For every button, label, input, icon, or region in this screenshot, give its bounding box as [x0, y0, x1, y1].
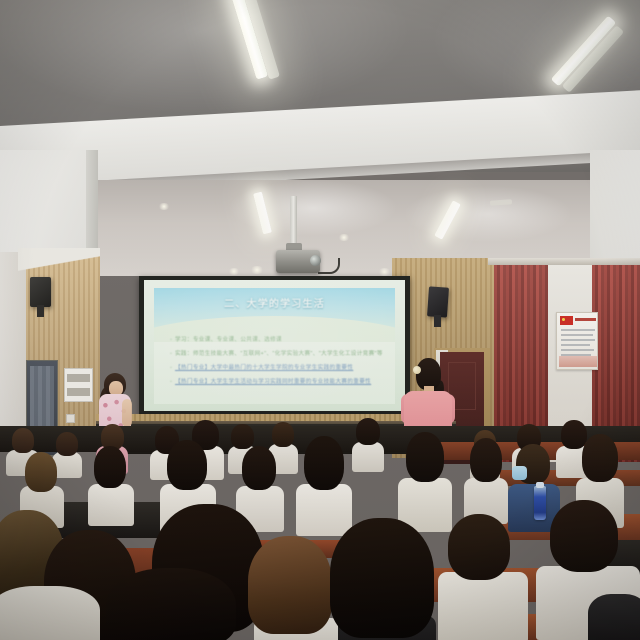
audience-head	[470, 438, 502, 482]
bullet-marker-icon: ◦	[170, 364, 172, 373]
hair-clip-icon	[413, 366, 421, 374]
face-mask-icon	[512, 466, 527, 480]
audience-torso	[0, 586, 100, 640]
slide-title: 二、大学的学习生活	[154, 295, 395, 310]
audience-person	[88, 446, 134, 520]
downlight-icon	[228, 268, 240, 275]
poster-text-line	[561, 344, 590, 346]
audience-person	[352, 418, 384, 468]
bullet-marker-icon: ◦	[170, 336, 172, 345]
poster-text-line	[561, 329, 595, 331]
audience-person	[464, 438, 508, 516]
poster-text-line	[561, 339, 595, 341]
audience-head	[272, 422, 294, 447]
wall-poster	[556, 312, 598, 370]
audience-head	[167, 440, 207, 490]
slide-body: ◦ 学习：专业课、专业课、公共课、选修课 ◦ 实践：师范生技能大赛、"互联网+"…	[170, 336, 387, 392]
wall-panel-slot	[67, 388, 90, 396]
audience-head	[582, 434, 618, 482]
bullet-marker-icon: ◦	[170, 378, 172, 387]
audience-torso	[88, 484, 134, 526]
poster-text-line	[561, 334, 593, 336]
slide-bullet-text: 实践：师范生技能大赛、"互联网+"、"化学实验大赛"、"大学生化工设计竞赛"等	[175, 350, 383, 359]
poster-text-line	[561, 349, 594, 351]
lecture-hall-photo: 二、大学的学习生活 ◦ 学习：专业课、专业课、公共课、选修课 ◦ 实践：师范生技…	[0, 0, 640, 640]
downlight-icon	[158, 203, 170, 210]
wall-speaker-bracket	[37, 305, 44, 317]
audience-head	[25, 452, 57, 492]
audience-area	[0, 418, 640, 640]
audience-head	[304, 436, 344, 490]
curtain-rod	[488, 258, 640, 265]
water-bottle-cap	[536, 482, 544, 488]
projection-screen: 二、大学的学习生活 ◦ 学习：专业课、专业课、公共课、选修课 ◦ 实践：师范生技…	[144, 280, 405, 411]
audience-head	[12, 428, 34, 453]
poster-footer-graphic	[559, 356, 597, 367]
audience-person	[296, 436, 352, 528]
audience-head	[406, 432, 444, 482]
flag-icon	[560, 316, 573, 325]
slide-bullet: ◦ 【热门专业】大学中最热门的十大学生学院的专业学生实践的重要性	[170, 364, 387, 373]
audience-torso	[438, 572, 528, 640]
downlight-icon	[378, 268, 391, 276]
presentation-slide: 二、大学的学习生活 ◦ 学习：专业课、专业课、公共课、选修课 ◦ 实践：师范生技…	[154, 288, 395, 404]
wall-speaker	[427, 286, 449, 317]
wall-speaker	[30, 277, 51, 307]
downlight-icon	[250, 266, 264, 274]
wall-speaker-bracket	[434, 315, 441, 327]
audience-head	[242, 446, 276, 490]
audience-torso	[352, 442, 384, 472]
audience-head	[550, 500, 618, 572]
audience-head	[356, 418, 380, 445]
audience-person	[330, 518, 442, 640]
audience-hair	[248, 536, 332, 634]
audience-person	[0, 586, 100, 640]
slide-bullet-text: 【热门专业】大学中最热门的十大学生学院的专业学生实践的重要性	[175, 364, 353, 373]
slide-bullet-text: 学习：专业课、专业课、公共课、选修课	[175, 336, 282, 345]
audience-person	[106, 568, 236, 640]
wall-panel-slot	[67, 374, 90, 382]
poster-heading	[575, 318, 596, 321]
audience-hair	[106, 568, 236, 640]
downlight-icon	[338, 234, 350, 241]
slide-bullet: ◦ 实践：师范生技能大赛、"互联网+"、"化学实验大赛"、"大学生化工设计竞赛"…	[170, 350, 387, 359]
audience-person	[588, 594, 640, 640]
audience-head	[94, 446, 126, 488]
audience-person	[434, 514, 530, 640]
audience-torso	[588, 594, 640, 640]
audience-person	[398, 432, 452, 526]
bullet-marker-icon: ◦	[170, 350, 172, 359]
audience-hair	[330, 518, 434, 638]
slide-bullet-text: 【热门专业】大学生学生活动与学习实践同时重要的专业技能大赛的重要性	[175, 378, 371, 387]
slide-bullet: ◦ 学习：专业课、专业课、公共课、选修课	[170, 336, 387, 345]
audience-head	[448, 514, 510, 580]
slide-bullet: ◦ 【热门专业】大学生学生活动与学习实践同时重要的专业技能大赛的重要性	[170, 378, 387, 387]
